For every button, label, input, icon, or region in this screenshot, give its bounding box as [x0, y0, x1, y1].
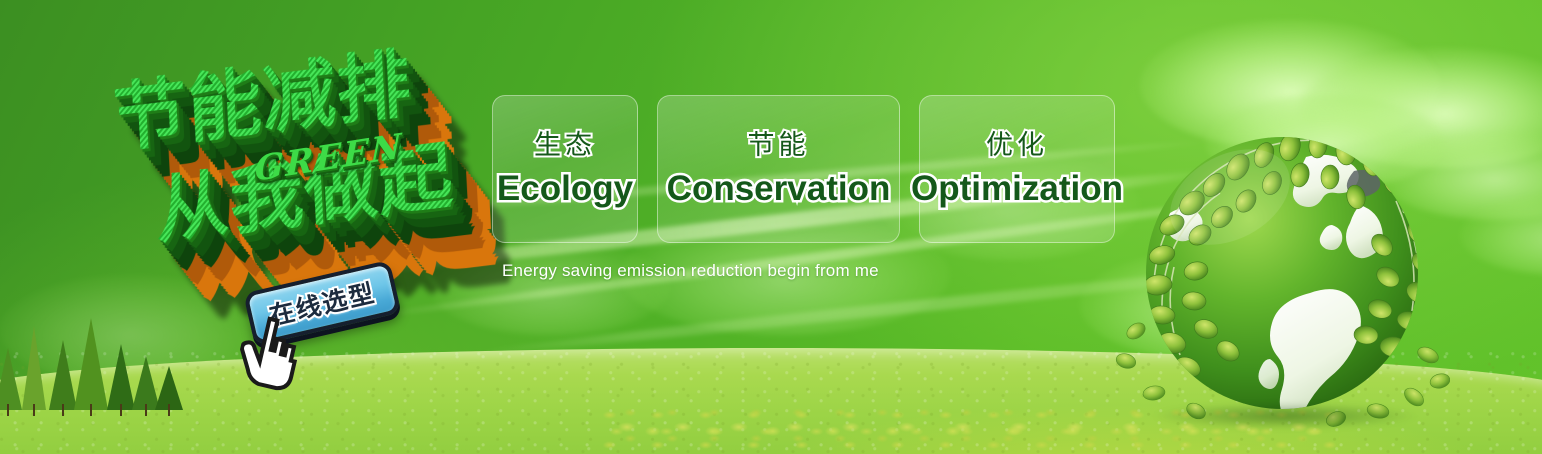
eco-hero-banner: 节能减排 从我做起 GREEN 在线选型 生态 Ecology 节能 Conse…: [0, 0, 1542, 454]
feature-card-optimization[interactable]: 优化 Optimization: [919, 95, 1115, 243]
cloud-icon: [1460, 195, 1542, 275]
globe-ground-shadow: [1154, 403, 1416, 429]
feature-card-en-label: Conservation: [667, 171, 891, 206]
green-leaf-globe-icon: [1110, 105, 1450, 435]
feature-card-en-label: Optimization: [911, 171, 1123, 206]
banner-tagline: Energy saving emission reduction begin f…: [502, 261, 879, 281]
feature-card-conservation[interactable]: 节能 Conservation: [657, 95, 900, 243]
feature-card-cn-label: 优化: [986, 132, 1048, 159]
feature-card-group: 生态 Ecology 节能 Conservation 优化 Optimizati…: [492, 95, 1115, 243]
feature-card-cn-label: 节能: [748, 132, 810, 159]
feature-card-en-label: Ecology: [497, 171, 633, 206]
feature-card-ecology[interactable]: 生态 Ecology: [492, 95, 638, 243]
feature-card-cn-label: 生态: [534, 132, 596, 159]
online-selection-label: 在线选型: [266, 273, 379, 332]
headline-artwork: 节能减排 从我做起 GREEN: [98, 42, 498, 267]
pine-tree-group: [0, 306, 200, 416]
online-selection-button[interactable]: 在线选型: [243, 260, 401, 346]
globe-illustration: [1110, 105, 1450, 435]
